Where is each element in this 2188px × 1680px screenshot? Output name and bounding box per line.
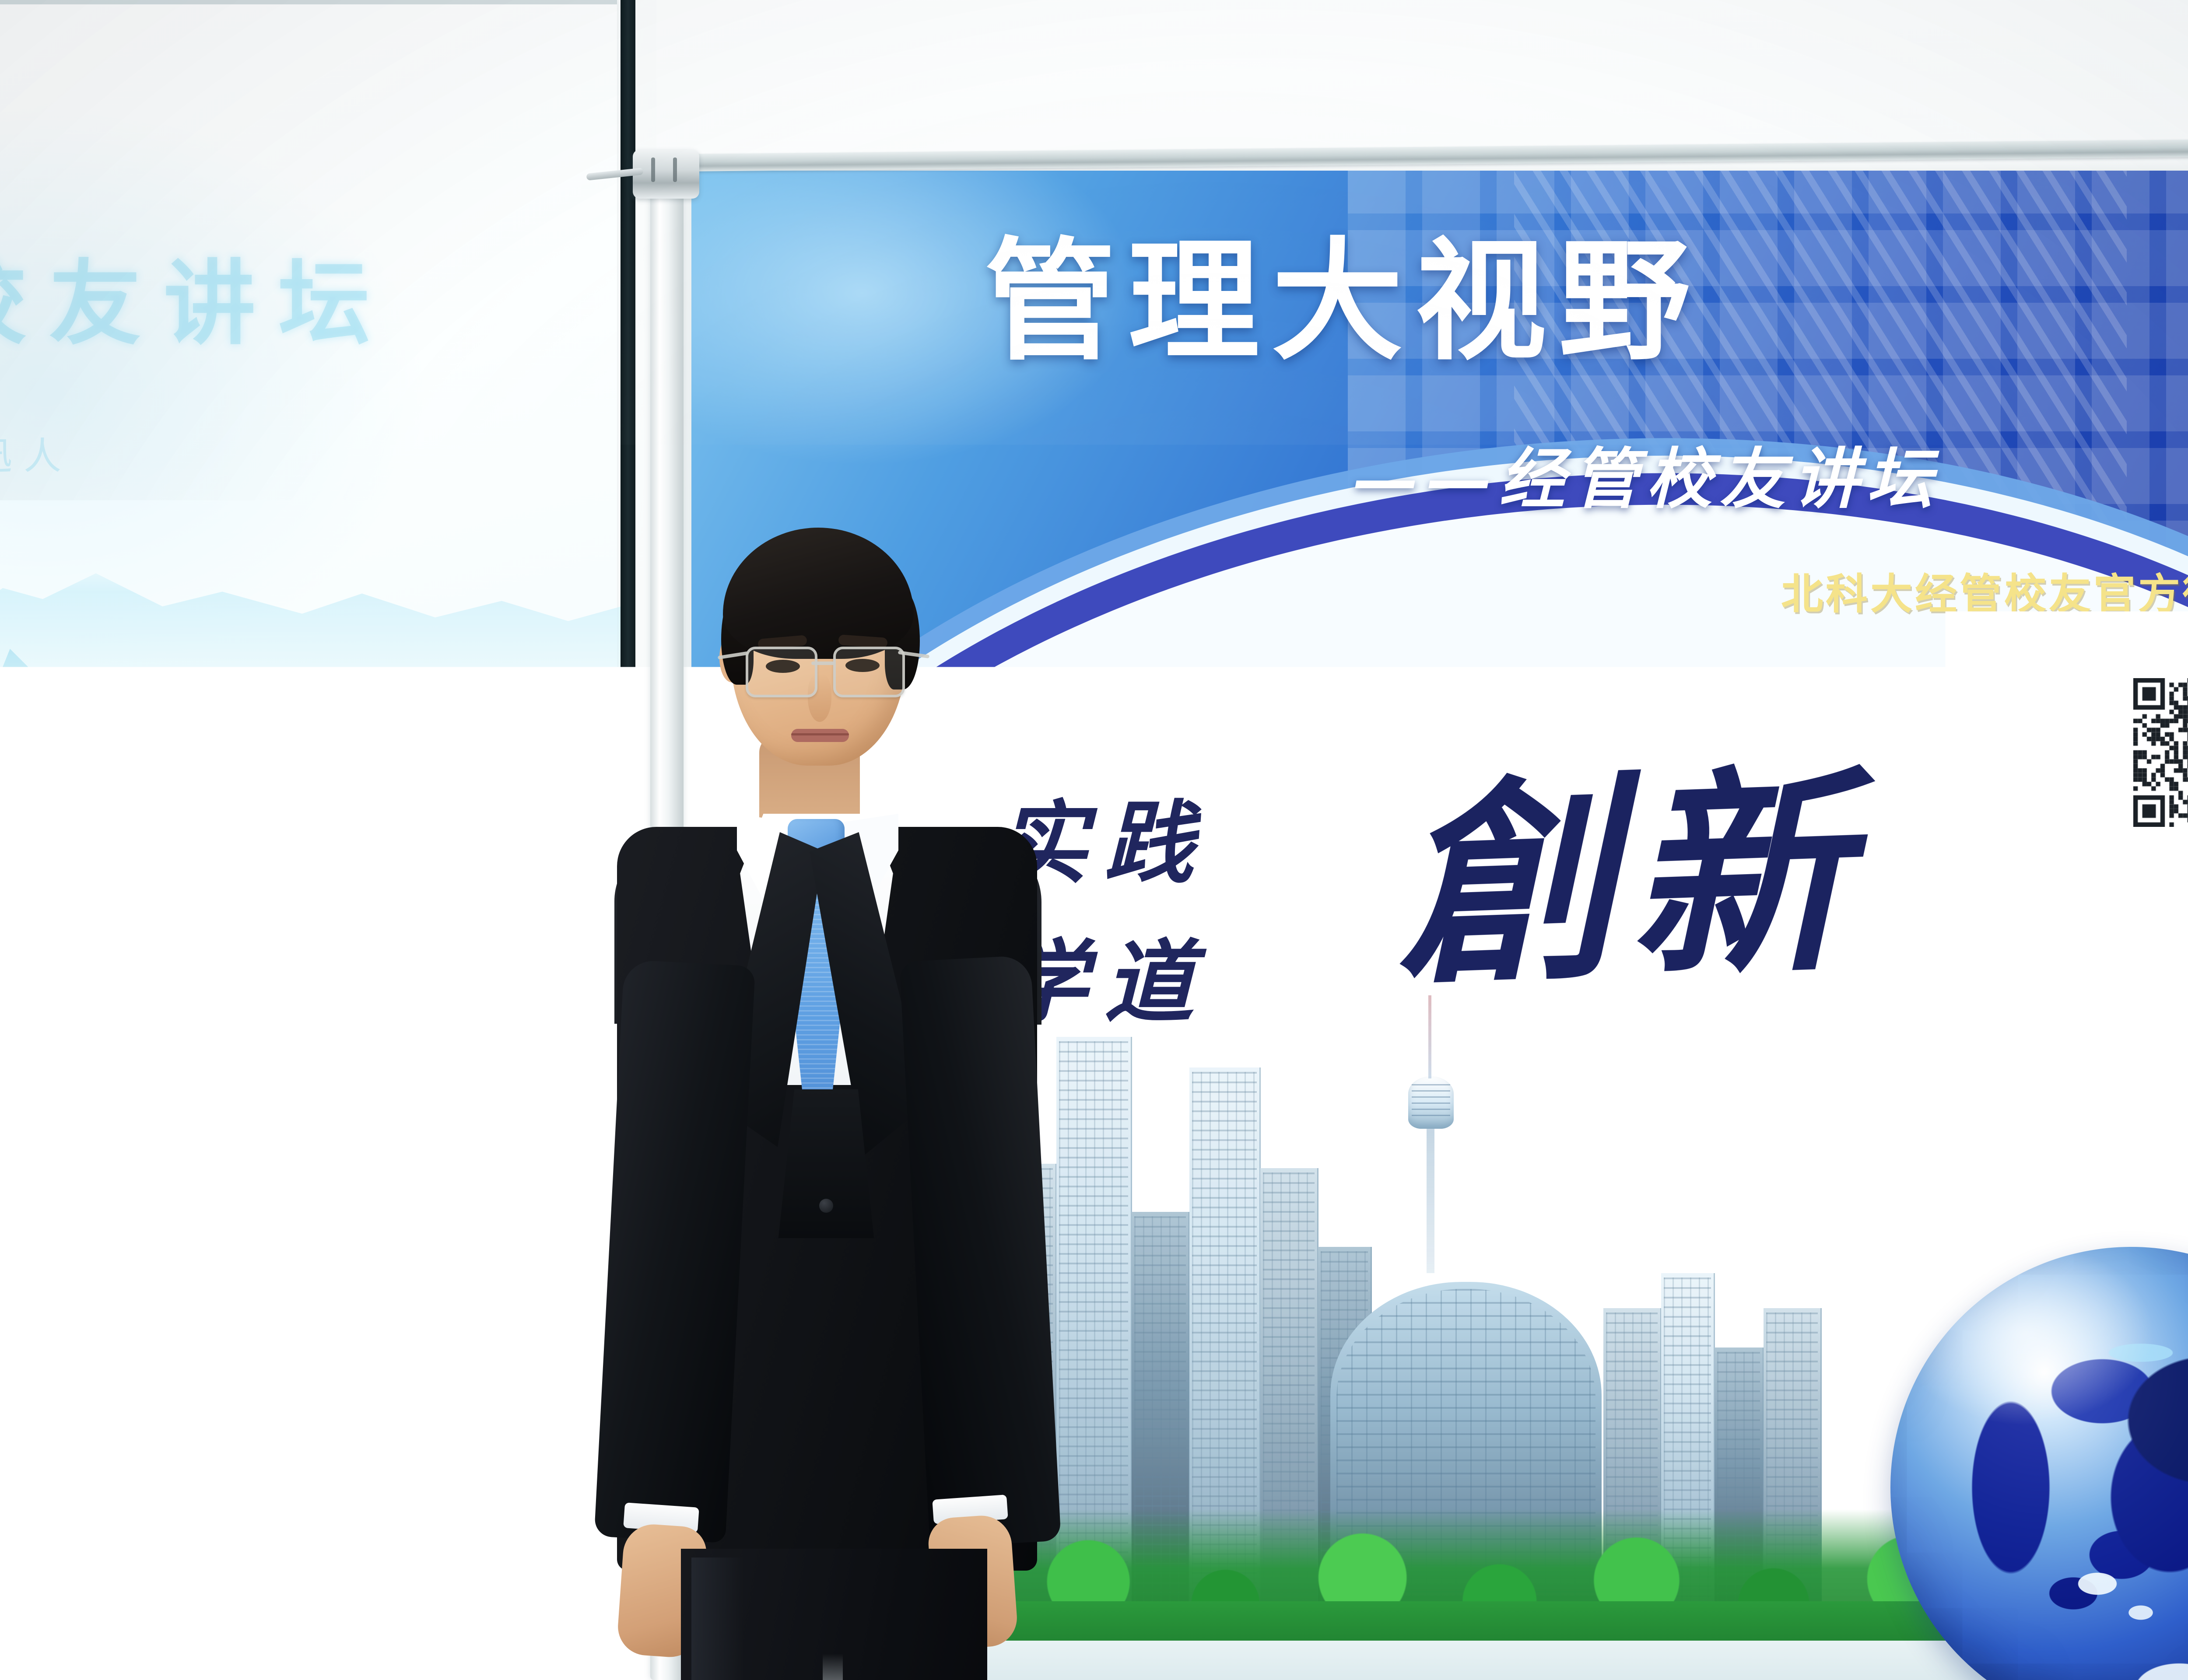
qr-code-icon (2133, 678, 2188, 827)
eyeglass-lens-right (833, 647, 905, 697)
speaker-person (560, 507, 1112, 1680)
screen-frame-top (0, 0, 617, 4)
banner-title: 管理大视野 (985, 236, 1702, 367)
screen-subtitle-text: 师迅人 (0, 437, 73, 475)
eyeglass-bridge (811, 661, 836, 665)
trouser-leg-gap (823, 1654, 843, 1680)
projection-screen: 校友讲坛 师迅人 (0, 0, 617, 1120)
wood-panel-seam (333, 1200, 335, 1353)
screen-title-text: 校友讲坛 (0, 258, 393, 350)
banner-clamp-left-top (633, 150, 699, 199)
calligraphy-big: 創新 (1392, 762, 1864, 997)
wood-panel-upper (0, 1200, 621, 1355)
blue-marker (0, 1164, 53, 1179)
banner-subtitle: ——经管校友讲坛 (1352, 446, 1940, 512)
eyeglass-lens-left (746, 647, 817, 697)
qr-caption: jgxy-ustb (2122, 838, 2188, 875)
photo-scene: 校友讲坛 师迅人 管理大视野 ——经管校友讲坛 北科大经管校友官方微信 jgxy… (0, 0, 2188, 1680)
banner-wechat-label: 北科大经管校友官方微信 (1781, 573, 2188, 615)
trouser-shading (691, 1557, 744, 1680)
mouth-line (791, 733, 849, 735)
suit-button (819, 1199, 833, 1213)
chalkboard-rail (26, 1164, 591, 1175)
screen-sheen (0, 0, 617, 1120)
wechat-qr-block: jgxy-ustb (2122, 678, 2188, 875)
globe-graphic (1890, 1247, 2188, 1680)
tv-tower-pod (1408, 1076, 1454, 1129)
radiator-grille (0, 1355, 621, 1680)
eyeglasses-icon (746, 647, 903, 695)
mouth (791, 729, 849, 742)
